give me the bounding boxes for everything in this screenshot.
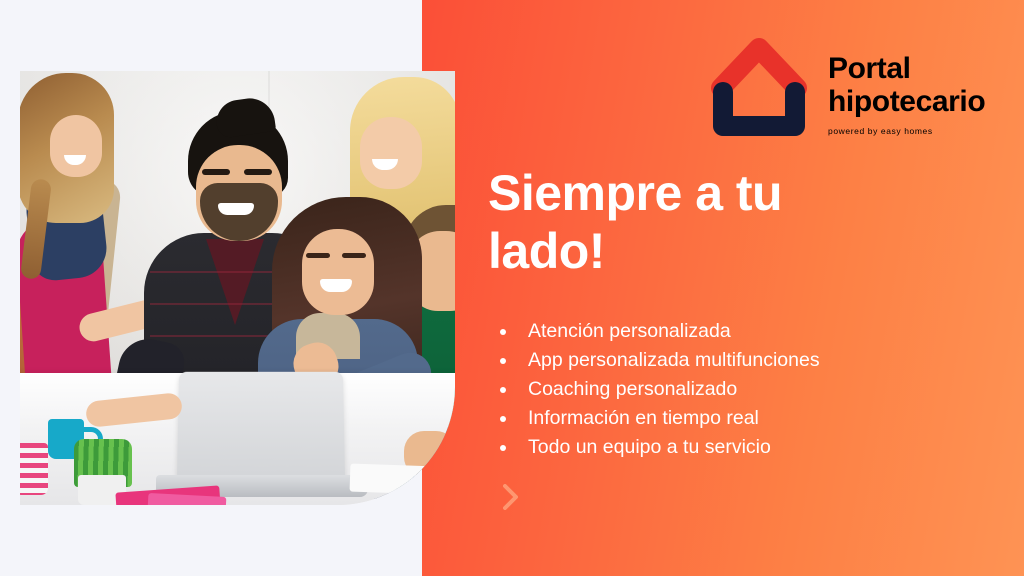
striped-cup <box>20 443 48 495</box>
page-title: Siempre a tu lado! <box>488 164 888 280</box>
list-item: Información en tiempo real <box>496 404 820 433</box>
person-d-brow <box>306 253 330 258</box>
brand-tagline: powered by easy homes <box>828 127 985 136</box>
photo-card <box>20 71 455 505</box>
list-item: Atención personalizada <box>496 317 820 346</box>
list-item: Todo un equipo a tu servicio <box>496 433 820 462</box>
person-b-brow <box>244 169 272 175</box>
person-a-face <box>50 115 102 177</box>
paper-sheet <box>350 464 437 495</box>
person-c-face <box>360 117 422 189</box>
laptop-screen <box>177 372 345 480</box>
feature-list: Atención personalizada App personalizada… <box>496 317 820 462</box>
list-item: Coaching personalizado <box>496 375 820 404</box>
person-d-face <box>302 229 374 315</box>
person-b-brow <box>202 169 230 175</box>
person-d-teeth <box>320 279 352 292</box>
list-item: App personalizada multifunciones <box>496 346 820 375</box>
brand-wordmark: Portal hipotecario powered by easy homes <box>828 24 985 136</box>
brand-name-line1: Portal <box>828 52 985 85</box>
house-icon <box>700 24 818 142</box>
team-photo <box>20 71 455 505</box>
person-d-brow <box>342 253 366 258</box>
person-b-teeth <box>218 203 254 215</box>
brand-name-line2: hipotecario <box>828 85 985 118</box>
slide-canvas: Portal hipotecario powered by easy homes… <box>0 0 1024 576</box>
brand-logo[interactable]: Portal hipotecario powered by easy homes <box>700 24 962 142</box>
chevron-right-icon[interactable] <box>500 482 522 512</box>
